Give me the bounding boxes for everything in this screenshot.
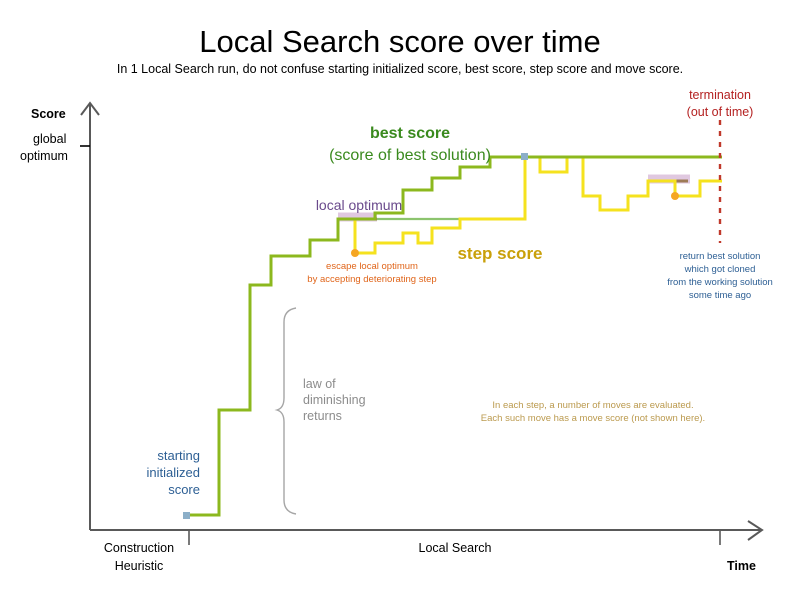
moves-note-line1: In each step, a number of moves are eval… <box>492 400 693 411</box>
local-optimum-label: local optimum <box>316 197 402 213</box>
escape-local-optimum-marker-1 <box>351 249 359 257</box>
termination-label-line2: (out of time) <box>687 105 754 119</box>
starting-score-label-line3: score <box>168 482 200 497</box>
diminishing-returns-line1: law of <box>303 377 336 391</box>
termination-label-line1: termination <box>689 88 751 102</box>
escape-note-line2: by accepting deteriorating step <box>307 274 436 285</box>
return-note-line1: return best solution <box>680 251 761 262</box>
moves-note-line2: Each such move has a move score (not sho… <box>481 413 705 424</box>
page-subtitle: In 1 Local Search run, do not confuse st… <box>117 62 683 76</box>
starting-score-label-line1: starting <box>157 448 200 463</box>
page-title: Local Search score over time <box>199 24 600 59</box>
y-axis <box>80 103 99 530</box>
y-axis-label: Score <box>31 107 66 121</box>
x-phase-local-search: Local Search <box>419 541 492 555</box>
escape-note-line1: escape local optimum <box>326 261 418 272</box>
x-phase-construction-line1: Construction <box>104 541 174 555</box>
diminishing-returns-line2: diminishing <box>303 393 366 407</box>
escape-local-optimum-marker-2 <box>671 192 679 200</box>
starting-initialized-score-marker <box>183 512 190 519</box>
x-axis-label: Time <box>727 559 756 573</box>
best-score-improvement-marker <box>521 153 528 160</box>
starting-score-label-line2: initialized <box>147 465 200 480</box>
chart-markers <box>183 153 679 519</box>
diagram-canvas: Local Search score over time In 1 Local … <box>0 0 800 600</box>
diminishing-returns-brace <box>277 308 296 514</box>
step-score-line <box>355 157 722 253</box>
best-score-line <box>186 157 722 515</box>
global-optimum-label-line2: optimum <box>20 149 68 163</box>
return-note-line4: some time ago <box>689 290 751 301</box>
best-score-sublabel: (score of best solution) <box>329 147 491 164</box>
local-search-diagram: Local Search score over time In 1 Local … <box>0 0 800 600</box>
step-score-label: step score <box>457 244 542 263</box>
return-note-line3: from the working solution <box>667 277 773 288</box>
global-optimum-label-line1: global <box>33 132 66 146</box>
diminishing-returns-line3: returns <box>303 409 342 423</box>
return-note-line2: which got cloned <box>684 264 756 275</box>
x-phase-construction-line2: Heuristic <box>115 559 164 573</box>
best-score-label: best score <box>370 125 450 142</box>
